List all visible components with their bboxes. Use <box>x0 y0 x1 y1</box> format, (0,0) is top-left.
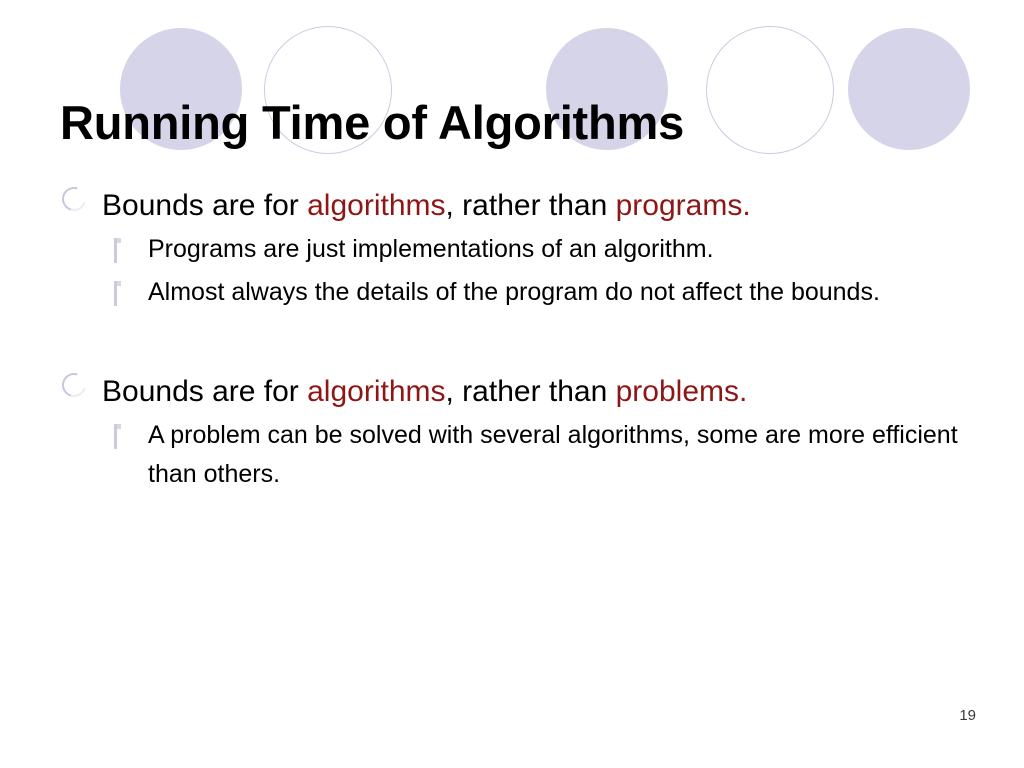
bullet-level2-item-3: A problem can be solved with several alg… <box>60 416 990 494</box>
bullet-text-segment-plain: Bounds are for <box>102 189 307 222</box>
bullet-text-segment-plain: Bounds are for <box>102 375 307 408</box>
bullet-text-segment-accent-programs: programs. <box>616 189 751 222</box>
bullet-text-segment-accent-problems: problems. <box>616 375 748 408</box>
slide-body: Bounds are for algorithms, rather than p… <box>60 182 990 494</box>
bullet-level2-text: A problem can be solved with several alg… <box>148 421 965 488</box>
bullet-level1-item-2: Bounds are for algorithms, rather than p… <box>60 368 990 416</box>
page-number: 19 <box>959 707 976 724</box>
arc-bullet-icon <box>58 183 90 215</box>
bullet-level2-item-2: Almost always the details of the program… <box>60 273 990 312</box>
bullet-text-segment-plain-2: , rather than <box>446 189 616 222</box>
tick-bullet-icon <box>114 281 117 306</box>
bullet-level2-item-1: Programs are just implementations of an … <box>60 230 990 269</box>
slide: Running Time of Algorithms Bounds are fo… <box>0 0 1024 768</box>
bullet-group-1: Bounds are for algorithms, rather than p… <box>60 182 990 312</box>
tick-bullet-icon <box>114 424 117 449</box>
arc-bullet-icon <box>58 369 90 401</box>
bullet-level2-text: Almost always the details of the program… <box>148 278 880 306</box>
slide-title: Running Time of Algorithms <box>60 93 960 153</box>
bullet-level2-text: Programs are just implementations of an … <box>148 235 714 263</box>
tick-bullet-icon <box>114 238 117 263</box>
bullet-text-segment-accent-algorithms: algorithms <box>307 375 445 408</box>
bullet-text-segment-plain-2: , rather than <box>446 375 616 408</box>
bullet-level1-item-1: Bounds are for algorithms, rather than p… <box>60 182 990 230</box>
bullet-text-segment-accent-algorithms: algorithms <box>307 189 445 222</box>
bullet-group-2: Bounds are for algorithms, rather than p… <box>60 368 990 494</box>
